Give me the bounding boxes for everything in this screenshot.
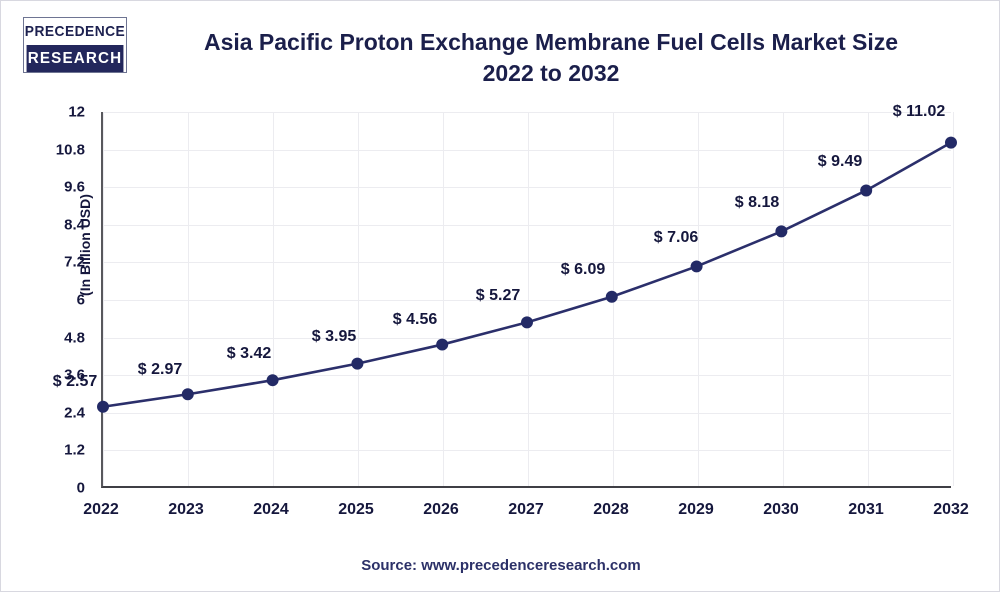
series-line [103,143,951,407]
y-axis-tick-label: 7.2 [64,254,85,271]
y-axis-tick-label: 4.8 [64,329,85,346]
data-point-label: $ 3.42 [227,345,271,363]
x-axis-tick-labels: 2022202320242025202620272028202920302031… [101,501,951,525]
data-point-marker[interactable] [691,260,703,272]
data-point-marker[interactable] [267,374,279,386]
source-caption: Source: www.precedenceresearch.com [1,557,1000,574]
y-axis-tick-label: 1.2 [64,442,85,459]
data-point-label: $ 9.49 [818,153,862,171]
data-point-label: $ 11.02 [893,103,946,121]
data-point-label: $ 4.56 [393,311,437,329]
y-axis-tick-label: 10.8 [56,141,85,158]
data-point-marker[interactable] [945,137,957,149]
data-point-marker[interactable] [775,225,787,237]
y-axis-tick-label: 8.4 [64,216,85,233]
logo-top-text: PRECEDENCE [28,18,122,45]
x-axis-tick-label: 2027 [508,501,544,519]
y-axis-tick-labels: 01.22.43.64.867.28.49.610.812 [1,112,93,488]
data-point-label: $ 7.06 [654,229,698,247]
data-point-label: $ 2.57 [53,373,97,391]
data-point-label: $ 2.97 [138,361,182,379]
x-axis-tick-label: 2028 [593,501,629,519]
x-axis-tick-label: 2031 [848,501,884,519]
logo-bottom-text: RESEARCH [27,45,124,72]
y-axis-tick-label: 9.6 [64,179,85,196]
plot-wrapper: $ 2.57$ 2.97$ 3.42$ 3.95$ 4.56$ 5.27$ 6.… [101,112,951,488]
data-point-label: $ 8.18 [735,194,779,212]
x-axis-tick-label: 2026 [423,501,459,519]
x-axis-tick-label: 2024 [253,501,289,519]
data-point-marker[interactable] [182,388,194,400]
x-axis-tick-label: 2032 [933,501,969,519]
chart-title-line-2: 2022 to 2032 [151,58,951,89]
data-point-marker[interactable] [606,291,618,303]
y-axis-tick-label: 2.4 [64,404,85,421]
data-point-label: $ 5.27 [476,287,520,305]
x-axis-tick-label: 2023 [168,501,204,519]
chart-title: Asia Pacific Proton Exchange Membrane Fu… [151,27,951,89]
y-axis-tick-label: 12 [68,104,85,121]
y-axis-tick-label: 0 [77,480,85,497]
data-point-label: $ 3.95 [312,328,356,346]
data-point-marker[interactable] [436,339,448,351]
data-point-marker[interactable] [521,316,533,328]
data-point-marker[interactable] [97,401,109,413]
data-point-marker[interactable] [351,358,363,370]
x-axis-tick-label: 2025 [338,501,374,519]
data-point-label: $ 6.09 [561,261,605,279]
gridline-vertical [953,112,954,486]
x-axis-tick-label: 2030 [763,501,799,519]
chart-card: PRECEDENCE RESEARCH Asia Pacific Proton … [0,0,1000,592]
chart-title-line-1: Asia Pacific Proton Exchange Membrane Fu… [204,29,898,55]
data-point-marker[interactable] [860,184,872,196]
x-axis-tick-label: 2022 [83,501,119,519]
plot-area: $ 2.57$ 2.97$ 3.42$ 3.95$ 4.56$ 5.27$ 6.… [101,112,951,488]
x-axis-tick-label: 2029 [678,501,714,519]
y-axis-tick-label: 6 [77,292,85,309]
precedence-research-logo: PRECEDENCE RESEARCH [23,17,127,73]
